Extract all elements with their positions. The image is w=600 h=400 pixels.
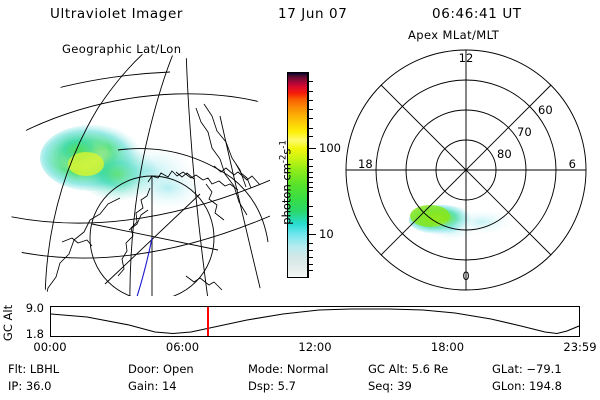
- colorbar-major-tick: [308, 234, 316, 235]
- status-field-1: Door: Open: [128, 362, 194, 376]
- header-bar: Ultraviolet Imager 17 Jun 07 06:46:41 UT: [0, 6, 600, 30]
- geographic-plot[interactable]: Geographic Lat/Lon: [0, 46, 270, 296]
- colorbar-minor-tick: [308, 224, 313, 225]
- colorbar-minor-tick: [308, 118, 313, 119]
- observation-date: 17 Jun 07: [278, 6, 347, 22]
- current-time-marker: [207, 307, 209, 336]
- mlt-label-12: 12: [459, 51, 474, 65]
- colorbar-minor-tick: [308, 172, 313, 173]
- altitude-trace: [51, 309, 579, 334]
- colorbar-major-tick: [308, 148, 316, 149]
- status-field-0: Flt: LBHL: [8, 362, 59, 376]
- status-field-4: GLon: 194.8: [492, 379, 562, 393]
- colorbar-minor-tick: [308, 270, 313, 271]
- colorbar-minor-tick: [308, 243, 313, 244]
- mlat-label-60: 60: [538, 103, 553, 117]
- orbit-time-tick-label: 23:59: [563, 340, 596, 354]
- aurora-emission-region: [40, 125, 202, 208]
- orbit-time-tick-label: 18:00: [431, 340, 464, 354]
- colorbar-minor-tick: [308, 191, 313, 192]
- apex-plot-title: Apex MLat/MLT: [408, 28, 499, 42]
- observation-time: 06:46:41 UT: [432, 6, 522, 22]
- colorbar-minor-tick: [308, 159, 313, 160]
- status-footer: Flt: LBHLDoor: OpenMode: NormalGC Alt: 5…: [0, 362, 600, 400]
- colorbar-minor-tick: [308, 100, 313, 101]
- colorbar-minor-tick: [308, 109, 313, 110]
- instrument-title: Ultraviolet Imager: [50, 6, 183, 22]
- colorbar-unit-label: photon cm-2s-1: [279, 112, 294, 252]
- colorbar-minor-tick: [308, 128, 313, 129]
- geographic-plot-title: Geographic Lat/Lon: [62, 42, 181, 56]
- orbit-ytick-max: 9.0: [14, 301, 44, 315]
- orbit-y-axis-label: GC Alt: [1, 301, 15, 345]
- mlt-label-18: 18: [358, 157, 373, 171]
- colorbar-minor-tick: [308, 187, 313, 188]
- status-field-0: IP: 36.0: [8, 379, 51, 393]
- geographic-plot-svg: [0, 46, 270, 296]
- orbit-altitude-curve-svg: [51, 307, 579, 336]
- mlat-label-80: 80: [497, 147, 512, 161]
- colorbar-minor-tick: [308, 166, 313, 167]
- status-field-1: Gain: 14: [128, 379, 177, 393]
- status-field-3: Seq: 39: [368, 379, 412, 393]
- colorbar-minor-tick: [308, 206, 313, 207]
- colorbar-minor-tick: [308, 264, 313, 265]
- colorbar-minor-tick: [308, 136, 313, 137]
- orbit-time-tick-label: 12:00: [298, 340, 331, 354]
- ultraviolet-imager-display: Ultraviolet Imager 17 Jun 07 06:46:41 UT: [0, 0, 600, 400]
- polar-grid: [346, 50, 586, 290]
- colorbar-minor-tick: [308, 250, 313, 251]
- apex-polar-plot[interactable]: Apex MLat/MLT 121860607080: [330, 40, 600, 296]
- colorbar-minor-tick: [308, 81, 313, 82]
- status-field-2: Dsp: 5.7: [248, 379, 296, 393]
- status-field-2: Mode: Normal: [248, 362, 328, 376]
- colorbar-minor-tick: [308, 91, 313, 92]
- orbit-time-tick-label: 06:00: [166, 340, 199, 354]
- colorbar-minor-tick: [308, 257, 313, 258]
- aurora-emission-region-apex: [409, 205, 512, 240]
- status-field-3: GC Alt: 5.6 Re: [368, 362, 448, 376]
- orbit-plot-box: [50, 306, 580, 337]
- orbit-time-tick-label: 00:00: [33, 340, 66, 354]
- colorbar-minor-tick: [308, 182, 313, 183]
- mlat-label-70: 70: [517, 125, 532, 139]
- orbit-altitude-plot[interactable]: GC Alt 9.0 1.8 00:0006:0012:0018:0023:59: [0, 296, 600, 352]
- mlt-label-0: 0: [462, 269, 469, 283]
- colorbar-axis-line: [308, 72, 309, 278]
- status-field-4: GLat: −79.1: [492, 362, 562, 376]
- mlt-label-6: 6: [569, 157, 576, 171]
- colorbar-minor-tick: [308, 216, 313, 217]
- colorbar-minor-tick: [308, 177, 313, 178]
- orbit-ytick-min: 1.8: [14, 327, 44, 341]
